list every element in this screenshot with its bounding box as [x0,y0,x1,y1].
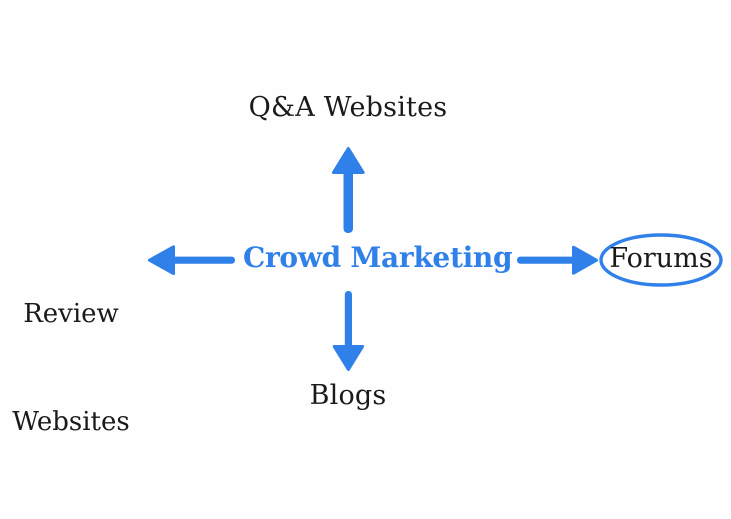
arrow-down-icon [334,291,362,370]
node-label-review-websites-line1: Review [0,296,142,332]
arrow-left-icon [150,247,236,274]
arrow-right-icon [517,247,597,273]
node-label-qa-websites: Q&A Websites [0,92,696,123]
node-label-forums: Forums [600,243,722,274]
node-label-review-websites: Review Websites [0,224,142,512]
arrow-up-icon [333,149,363,234]
center-node-label-crowd-marketing: Crowd Marketing [243,241,509,274]
diagram-canvas: Q&A Websites Review Websites Forums Blog… [0,0,731,519]
node-label-blogs: Blogs [0,380,696,411]
